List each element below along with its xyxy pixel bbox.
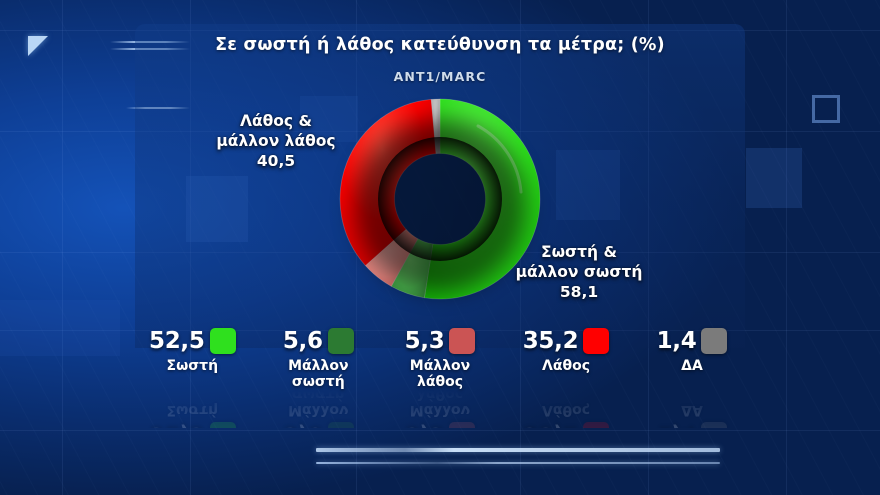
legend-item-label: Μάλλον λάθος <box>410 358 470 390</box>
legend-item-value: 5,3 <box>405 328 445 354</box>
legend-item-1[interactable]: 5,6Μάλλον σωστή <box>279 326 357 390</box>
legend-item-value-row: 5,6 <box>283 420 354 428</box>
grid-line-vertical <box>786 0 787 495</box>
legend-item-value-row: 1,4 <box>657 326 728 356</box>
swatch-da <box>701 422 727 428</box>
grid-line-horizontal <box>0 430 880 431</box>
legend-item-3: 35,2Λάθος <box>523 402 610 428</box>
swatch-lathos <box>583 422 609 428</box>
legend-item-2[interactable]: 5,3Μάλλον λάθος <box>401 326 479 390</box>
callout-right-line2: μάλλον σωστή <box>474 263 684 283</box>
legend-item-0[interactable]: 52,5Σωστή <box>149 326 236 374</box>
swatch-mallon-lathos <box>449 422 475 428</box>
swatch-da <box>701 328 727 354</box>
legend-item-value: 35,2 <box>523 422 579 428</box>
callout-left-line2: μάλλον λάθος <box>176 132 376 152</box>
legend-item-3[interactable]: 35,2Λάθος <box>523 326 610 374</box>
legend-item-label: Λάθος <box>542 358 590 374</box>
page-title: Σε σωστή ή λάθος κατεύθυνση τα μέτρα; (%… <box>135 35 745 55</box>
legend-item-value: 1,4 <box>657 422 697 428</box>
callout-right-line1: Σωστή & <box>474 243 684 263</box>
callout-right-value: 58,1 <box>474 283 684 303</box>
legend-item-value: 5,3 <box>405 422 445 428</box>
bottom-accent-bar <box>316 448 720 452</box>
legend-item-value-row: 35,2 <box>523 326 610 356</box>
callout-left-value: 40,5 <box>176 152 376 172</box>
background-block <box>746 148 802 208</box>
legend: 52,5Σωστή5,6Μάλλον σωστή5,3Μάλλον λάθος3… <box>135 326 745 388</box>
legend-item-4: 1,4ΔΑ <box>653 402 731 428</box>
swatch-mallon-sosti <box>328 328 354 354</box>
legend-item-1: 5,6Μάλλον σωστή <box>279 388 357 428</box>
swatch-sosti <box>210 328 236 354</box>
swatch-mallon-sosti <box>328 422 354 428</box>
legend-item-value: 5,6 <box>283 328 323 354</box>
legend-item-value-row: 52,5 <box>149 326 236 356</box>
legend-item-value-row: 5,3 <box>405 326 476 356</box>
swatch-mallon-lathos <box>449 328 475 354</box>
callout-left: Λάθος & μάλλον λάθος 40,5 <box>176 112 376 171</box>
legend-item-label: Μάλλον σωστή <box>288 388 348 418</box>
callout-right: Σωστή & μάλλον σωστή 58,1 <box>474 243 684 302</box>
swatch-lathos <box>583 328 609 354</box>
background-block <box>0 300 120 356</box>
legend-item-0: 52,5Σωστή <box>149 402 236 428</box>
triangle-marker-icon <box>28 36 48 56</box>
broadcast-graphic: Σε σωστή ή λάθος κατεύθυνση τα μέτρα; (%… <box>0 0 880 495</box>
legend-item-label: Σωστή <box>167 402 219 418</box>
legend-item-value-row: 35,2 <box>523 420 610 428</box>
bottom-accent-bar-thin <box>316 462 720 464</box>
legend-item-value: 5,6 <box>283 422 323 428</box>
legend-reflection-content: 52,5Σωστή5,6Μάλλον σωστή5,3Μάλλον λάθος3… <box>135 388 745 428</box>
legend-item-2: 5,3Μάλλον λάθος <box>401 388 479 428</box>
legend-item-label: Μάλλον σωστή <box>288 358 348 390</box>
source-label: ANT1/MARC <box>135 69 745 84</box>
legend-item-value: 52,5 <box>149 328 205 354</box>
legend-item-label: ΔΑ <box>681 402 703 418</box>
callout-left-line1: Λάθος & <box>176 112 376 132</box>
legend-item-value-row: 5,6 <box>283 326 354 356</box>
legend-item-value-row: 52,5 <box>149 420 236 428</box>
legend-item-label: ΔΑ <box>681 358 703 374</box>
swatch-sosti <box>210 422 236 428</box>
legend-item-value: 1,4 <box>657 328 697 354</box>
grid-line-vertical <box>62 0 63 495</box>
legend-reflection: 52,5Σωστή5,6Μάλλον σωστή5,3Μάλλον λάθος3… <box>135 388 745 428</box>
legend-item-label: Μάλλον λάθος <box>410 388 470 418</box>
legend-item-4[interactable]: 1,4ΔΑ <box>653 326 731 374</box>
legend-item-value-row: 1,4 <box>657 420 728 428</box>
legend-item-label: Λάθος <box>542 402 590 418</box>
square-outline-icon <box>812 95 840 123</box>
legend-item-label: Σωστή <box>167 358 219 374</box>
legend-item-value: 35,2 <box>523 328 579 354</box>
legend-item-value-row: 5,3 <box>405 420 476 428</box>
legend-item-value: 52,5 <box>149 422 205 428</box>
